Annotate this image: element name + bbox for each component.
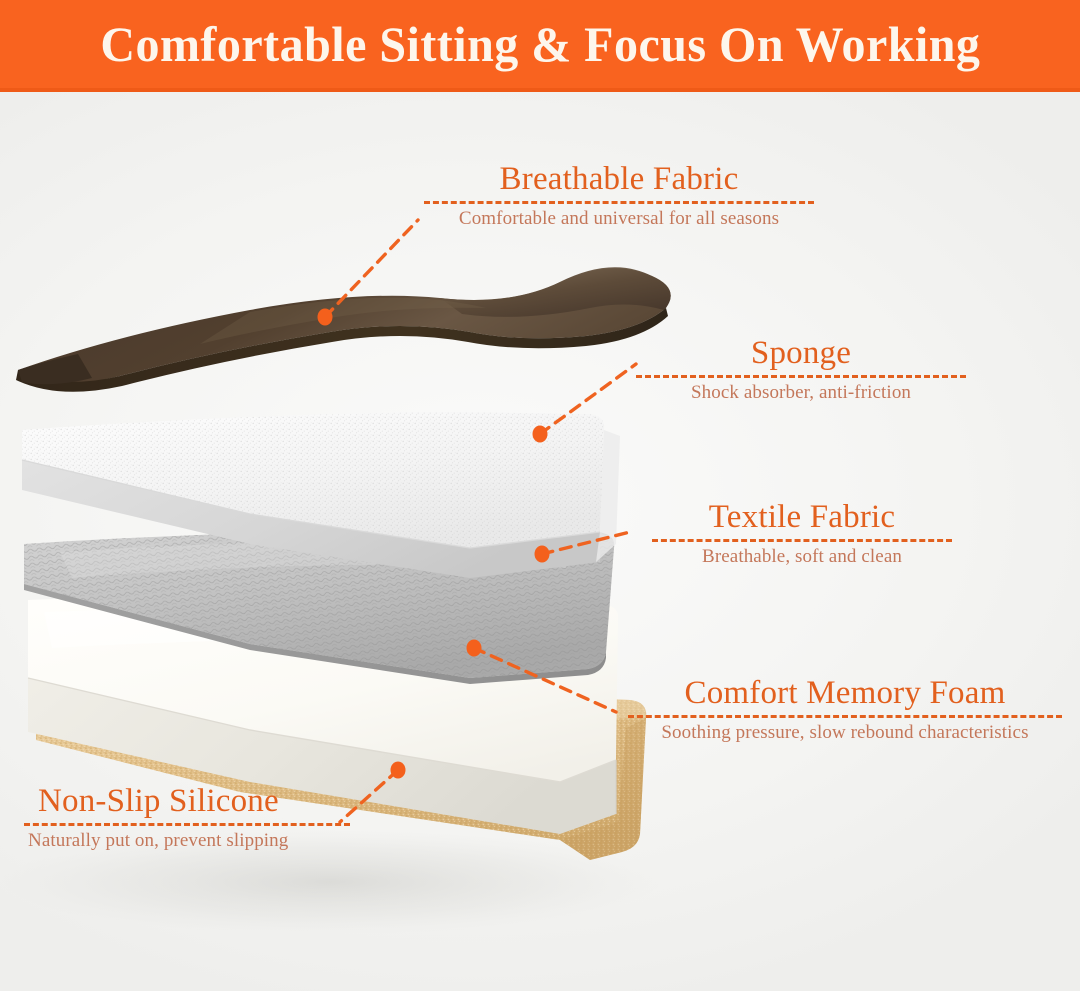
marker-sponge [533,426,548,443]
callout-divider [424,201,814,204]
callout-divider [628,715,1062,718]
marker-textile [535,546,550,563]
callout-divider [24,823,350,826]
callout-subtitle: Breathable, soft and clean [652,546,952,568]
callout-divider [636,375,966,378]
callout-comfort-memory-foam: Comfort Memory Foam Soothing pressure, s… [628,676,1062,744]
callout-textile-fabric: Textile Fabric Breathable, soft and clea… [652,500,952,568]
page-title: Comfortable Sitting & Focus On Working [100,19,980,69]
callout-sponge: Sponge Shock absorber, anti-friction [636,336,966,404]
callout-title: Textile Fabric [652,500,952,535]
callout-divider [652,539,952,542]
callout-subtitle: Naturally put on, prevent slipping [24,830,350,852]
product-infographic: Comfortable Sitting & Focus On Working [0,0,1080,991]
exploded-view-stage: Breathable Fabric Comfortable and univer… [0,92,1080,991]
callout-subtitle: Comfortable and universal for all season… [424,208,814,230]
callout-title: Non-Slip Silicone [24,784,350,819]
breathable-fabric-layer [16,267,671,391]
callout-subtitle: Soothing pressure, slow rebound characte… [628,722,1062,744]
marker-foam [467,640,482,657]
header-banner: Comfortable Sitting & Focus On Working [0,0,1080,92]
marker-breathable [318,309,333,326]
callout-subtitle: Shock absorber, anti-friction [636,382,966,404]
callout-title: Breathable Fabric [424,162,814,197]
callout-non-slip-silicone: Non-Slip Silicone Naturally put on, prev… [24,784,350,852]
callout-title: Comfort Memory Foam [628,676,1062,711]
marker-silicone [391,762,406,779]
callout-title: Sponge [636,336,966,371]
callout-breathable-fabric: Breathable Fabric Comfortable and univer… [424,162,814,230]
